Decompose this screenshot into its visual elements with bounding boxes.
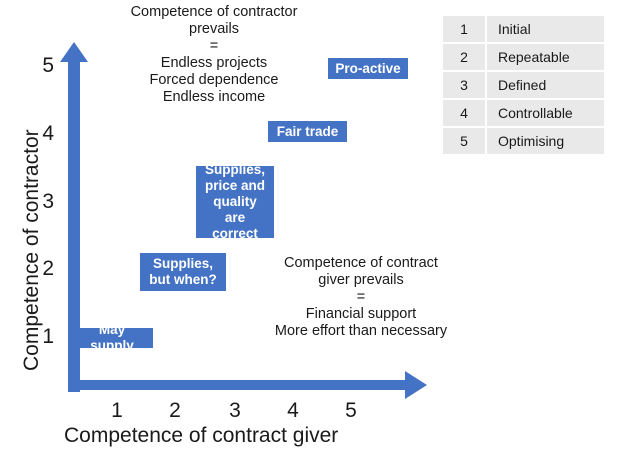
- lower-right-note: Competence of contract giver prevails = …: [252, 255, 470, 340]
- x-axis-title: Competence of contract giver: [64, 424, 338, 448]
- legend-level-5: 5: [443, 128, 487, 154]
- legend-level-2: 2: [443, 44, 487, 72]
- chip-fair-trade[interactable]: Fair trade: [268, 121, 347, 142]
- legend-label-5: Optimising: [487, 128, 604, 154]
- x-axis-arrow: [68, 371, 427, 399]
- legend-label-3: Defined: [487, 72, 604, 100]
- y-axis-title: Competence of contractor: [20, 129, 44, 371]
- x-tick-3: 3: [222, 400, 248, 421]
- table-row: 4 Controllable: [443, 100, 604, 128]
- legend-level-1: 1: [443, 16, 487, 44]
- legend-label-4: Controllable: [487, 100, 604, 128]
- chip-may-supply[interactable]: May supply: [71, 328, 153, 348]
- x-tick-4: 4: [280, 400, 306, 421]
- table-row: 2 Repeatable: [443, 44, 604, 72]
- legend-level-4: 4: [443, 100, 487, 128]
- legend-label-1: Initial: [487, 16, 604, 44]
- table-row: 1 Initial: [443, 16, 604, 44]
- upper-left-note: Competence of contractor prevails = Endl…: [93, 4, 335, 106]
- legend-label-2: Repeatable: [487, 44, 604, 72]
- table-row: 3 Defined: [443, 72, 604, 100]
- chip-pro-active[interactable]: Pro-active: [328, 58, 408, 79]
- maturity-legend-table: 1 Initial 2 Repeatable 3 Defined 4 Contr…: [443, 16, 604, 154]
- x-tick-2: 2: [162, 400, 188, 421]
- chip-supplies-but-when[interactable]: Supplies, but when?: [140, 253, 226, 291]
- legend-level-3: 3: [443, 72, 487, 100]
- x-tick-5: 5: [338, 400, 364, 421]
- x-tick-1: 1: [104, 400, 130, 421]
- table-row: 5 Optimising: [443, 128, 604, 154]
- y-tick-5: 5: [28, 55, 54, 76]
- chip-supplies-price-quality[interactable]: Supplies, price and quality are correct: [196, 166, 274, 238]
- diagram-canvas: 5 4 3 2 1 1 2 3 4 5 Competence of contra…: [0, 0, 617, 453]
